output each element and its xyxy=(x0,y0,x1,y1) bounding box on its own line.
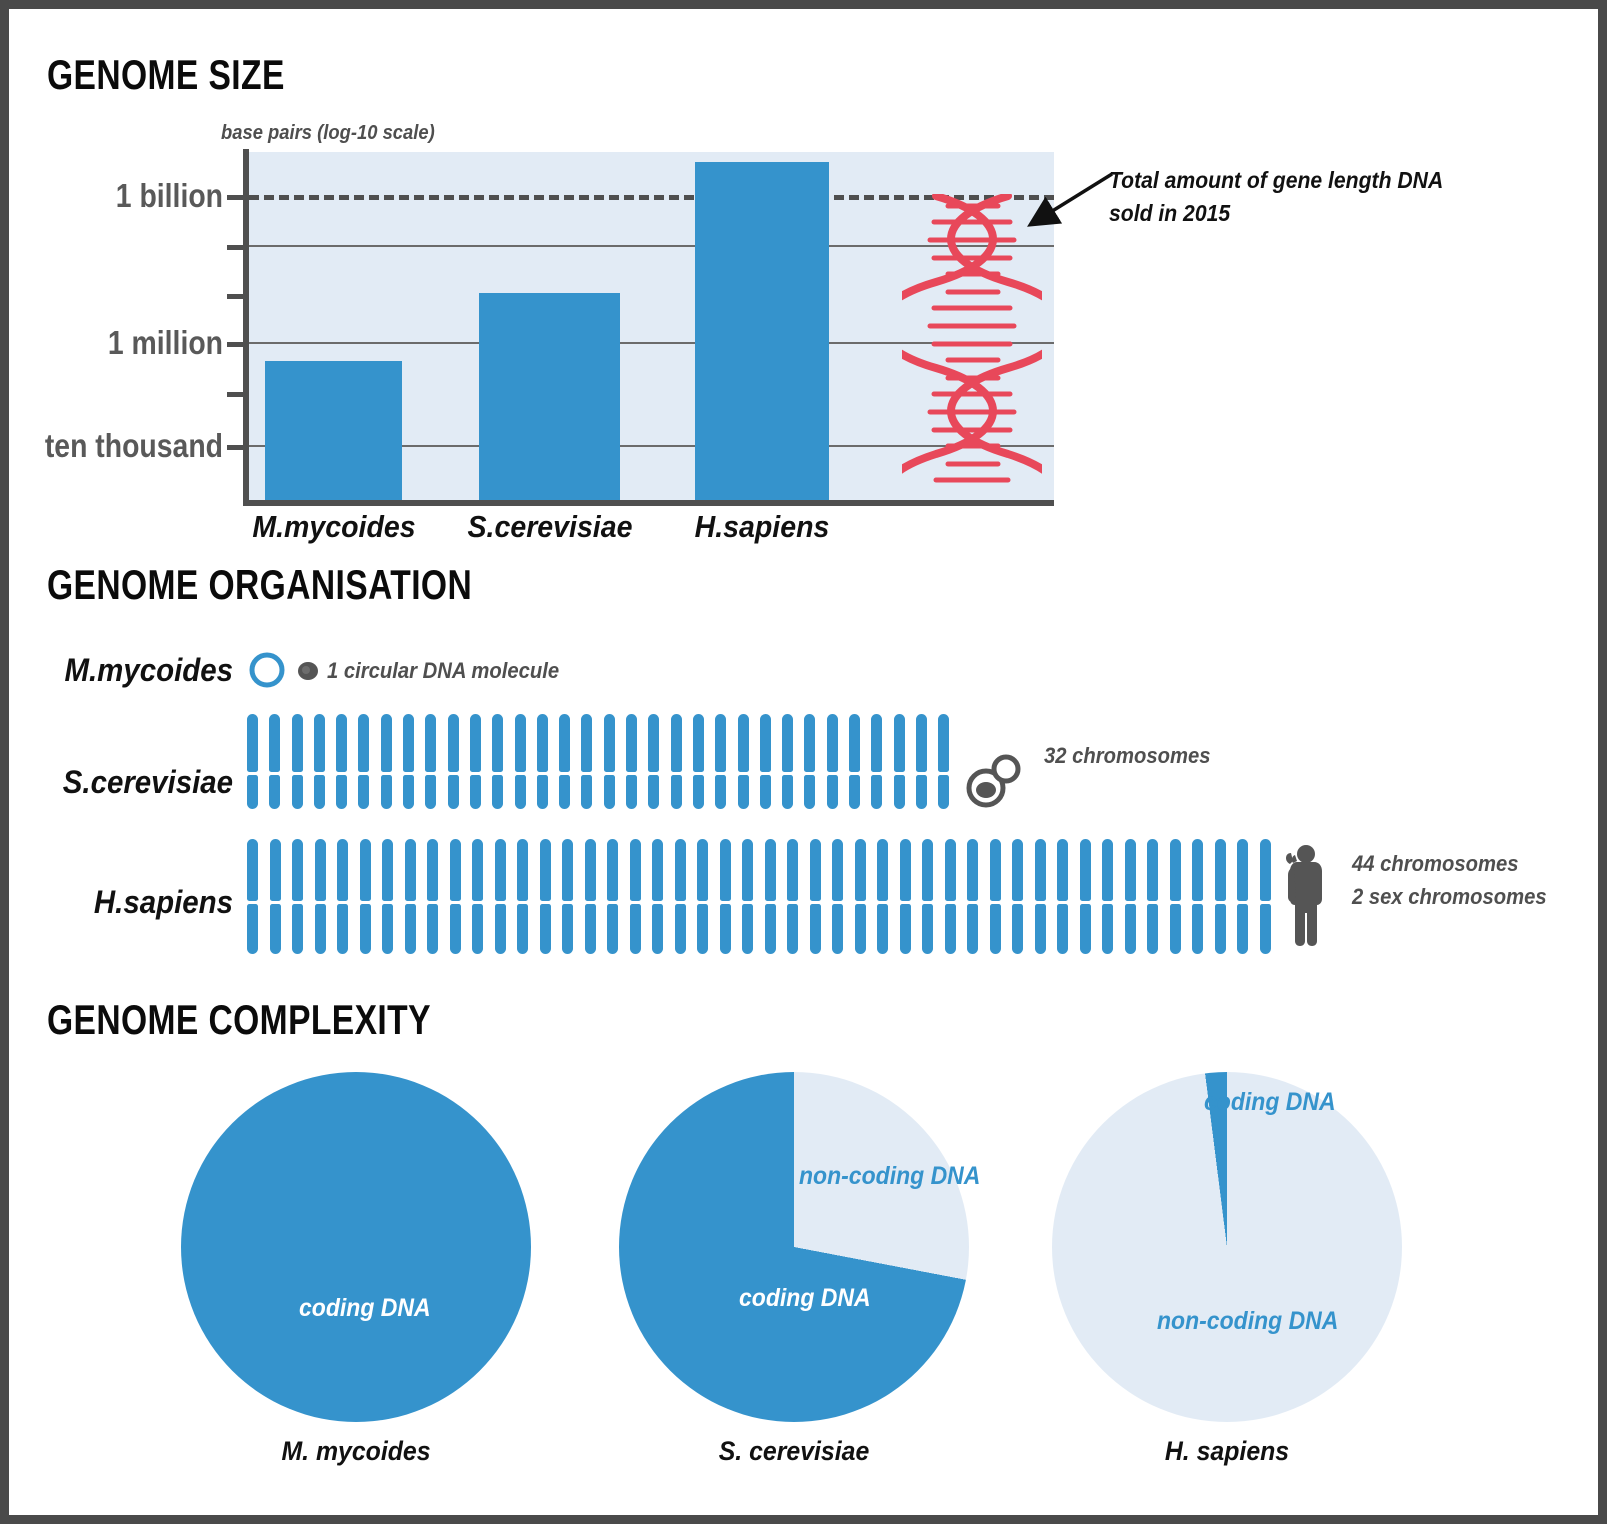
chromosome xyxy=(877,839,900,954)
chromosome xyxy=(1125,839,1148,954)
pie-label-coding-m-mycoides: coding DNA xyxy=(299,1294,431,1323)
chromosome xyxy=(894,714,916,809)
chromosome xyxy=(1260,839,1283,954)
pie-label-coding-h-sapiens: coding DNA xyxy=(1204,1088,1336,1117)
annotation-arrow-icon xyxy=(1019,169,1119,234)
chromosome xyxy=(292,714,314,809)
org-species-label-h-sapiens: H.sapiens xyxy=(27,884,233,921)
chromosome xyxy=(585,839,608,954)
chromosome xyxy=(470,714,492,809)
chromosome xyxy=(247,714,269,809)
chromosome xyxy=(604,714,626,809)
x-tick-label-s-cerevisiae: S.cerevisiae xyxy=(460,509,640,545)
chromosome xyxy=(827,714,849,809)
annotation-text: Total amount of gene length DNA sold in … xyxy=(1109,164,1443,231)
chromosome xyxy=(990,839,1013,954)
page-title-genome-size: GENOME SIZE xyxy=(47,51,285,99)
chromosome xyxy=(607,839,630,954)
chromosome xyxy=(472,839,495,954)
chromosome xyxy=(337,839,360,954)
pie-chart-m-mycoides xyxy=(181,1072,531,1422)
chromosome xyxy=(697,839,720,954)
genome-size-section: GENOME SIZE base pairs (log-10 scale) xyxy=(9,9,1607,549)
y-axis-caption: base pairs (log-10 scale) xyxy=(221,122,435,145)
chromosome xyxy=(315,839,338,954)
org-note-line-1: 44 chromosomes xyxy=(1352,847,1547,880)
chromosome-row-h-sapiens xyxy=(247,839,1282,954)
chromosome xyxy=(693,714,715,809)
chromosome-row-s-cerevisiae xyxy=(247,714,961,809)
chromosome xyxy=(1012,839,1035,954)
x-axis-line xyxy=(243,500,1054,506)
org-note-m-mycoides: 1 circular DNA molecule xyxy=(327,654,559,687)
dna-helix-icon xyxy=(902,194,1042,500)
chromosome xyxy=(269,714,291,809)
org-note-h-sapiens: 44 chromosomes 2 sex chromosomes xyxy=(1352,847,1547,913)
x-tick-label-h-sapiens: H.sapiens xyxy=(674,509,851,545)
chromosome xyxy=(804,714,826,809)
chromosome xyxy=(675,839,698,954)
chromosome xyxy=(1237,839,1260,954)
chromosome xyxy=(581,714,603,809)
chromosome xyxy=(782,714,804,809)
y-tick-label-1-billion: 1 billion xyxy=(39,177,223,215)
chromosome xyxy=(742,839,765,954)
chromosome xyxy=(738,714,760,809)
chromosome xyxy=(1147,839,1170,954)
chromosome xyxy=(715,714,737,809)
y-tick xyxy=(227,245,249,250)
chromosome xyxy=(314,714,336,809)
pie-chart-h-sapiens xyxy=(1052,1072,1402,1422)
chromosome xyxy=(540,839,563,954)
pie-caption-m-mycoides: M. mycoides xyxy=(250,1436,462,1467)
y-tick xyxy=(227,342,249,347)
annotation-line-1: Total amount of gene length DNA xyxy=(1109,164,1443,197)
chromosome xyxy=(648,714,670,809)
chromosome xyxy=(916,714,938,809)
chromosome xyxy=(360,839,383,954)
pie-caption-s-cerevisiae: S. cerevisiae xyxy=(688,1436,900,1467)
chromosome xyxy=(938,714,960,809)
chromosome xyxy=(626,714,648,809)
y-tick xyxy=(227,294,249,299)
org-species-label-s-cerevisiae: S.cerevisiae xyxy=(27,764,233,801)
chromosome xyxy=(405,839,428,954)
pie-caption-h-sapiens: H. sapiens xyxy=(1121,1436,1333,1467)
chromosome xyxy=(720,839,743,954)
chromosome xyxy=(537,714,559,809)
human-figure-icon xyxy=(1281,841,1329,961)
y-tick-label-ten-thousand: ten thousand xyxy=(39,427,223,465)
chromosome xyxy=(1080,839,1103,954)
org-species-label-m-mycoides: M.mycoides xyxy=(27,652,233,689)
chromosome xyxy=(652,839,675,954)
page-title-genome-organisation: GENOME ORGANISATION xyxy=(47,561,472,609)
bar-h-sapiens xyxy=(695,162,829,500)
chromosome xyxy=(515,714,537,809)
chromosome xyxy=(1102,839,1125,954)
pie-label-noncoding-h-sapiens: non-coding DNA xyxy=(1157,1307,1338,1336)
pie-label-coding-s-cerevisiae: coding DNA xyxy=(739,1284,871,1313)
chromosome xyxy=(900,839,923,954)
genome-complexity-section: GENOME COMPLEXITY coding DNA M. mycoides… xyxy=(9,984,1607,1533)
page-title-genome-complexity: GENOME COMPLEXITY xyxy=(47,996,431,1044)
chromosome xyxy=(270,839,293,954)
chromosome xyxy=(450,839,473,954)
chromosome xyxy=(922,839,945,954)
chromosome xyxy=(336,714,358,809)
chromosome xyxy=(448,714,470,809)
x-tick-label-m-mycoides: M.mycoides xyxy=(247,509,422,545)
pie-label-noncoding-s-cerevisiae: non-coding DNA xyxy=(799,1162,980,1191)
chromosome xyxy=(292,839,315,954)
annotation-line-2: sold in 2015 xyxy=(1109,197,1443,230)
org-note-line-2: 2 sex chromosomes xyxy=(1352,880,1547,913)
chromosome xyxy=(425,714,447,809)
chromosome xyxy=(760,714,782,809)
org-note-s-cerevisiae: 32 chromosomes xyxy=(1044,739,1210,772)
chromosome xyxy=(559,714,581,809)
chromosome xyxy=(1170,839,1193,954)
chromosome xyxy=(495,839,518,954)
chromosome xyxy=(382,839,405,954)
bar-s-cerevisiae xyxy=(479,293,620,500)
chromosome xyxy=(427,839,450,954)
chromosome xyxy=(1035,839,1058,954)
bacterium-icon xyxy=(296,659,320,683)
chromosome xyxy=(810,839,833,954)
y-tick-label-1-million: 1 million xyxy=(39,324,223,362)
dna-ring-icon xyxy=(247,650,287,690)
chromosome xyxy=(849,714,871,809)
chromosome xyxy=(671,714,693,809)
chromosome xyxy=(247,839,270,954)
pie-chart-s-cerevisiae xyxy=(619,1072,969,1422)
chromosome xyxy=(967,839,990,954)
chromosome xyxy=(765,839,788,954)
chromosome xyxy=(358,714,380,809)
chromosome xyxy=(1192,839,1215,954)
chromosome xyxy=(630,839,653,954)
chromosome xyxy=(832,839,855,954)
chromosome xyxy=(1215,839,1238,954)
chromosome xyxy=(855,839,878,954)
y-tick xyxy=(227,195,249,200)
bar-m-mycoides xyxy=(265,361,402,500)
yeast-cell-icon xyxy=(964,752,1022,810)
genome-organisation-section: GENOME ORGANISATION M.mycoides 1 circula… xyxy=(9,549,1607,979)
chromosome xyxy=(517,839,540,954)
chromosome xyxy=(381,714,403,809)
chromosome xyxy=(492,714,514,809)
chromosome xyxy=(403,714,425,809)
infographic-frame: GENOME SIZE base pairs (log-10 scale) xyxy=(0,0,1607,1524)
chromosome xyxy=(562,839,585,954)
y-tick xyxy=(227,392,249,397)
chromosome xyxy=(1057,839,1080,954)
chromosome xyxy=(787,839,810,954)
chromosome xyxy=(945,839,968,954)
y-tick xyxy=(227,445,249,450)
chromosome xyxy=(871,714,893,809)
